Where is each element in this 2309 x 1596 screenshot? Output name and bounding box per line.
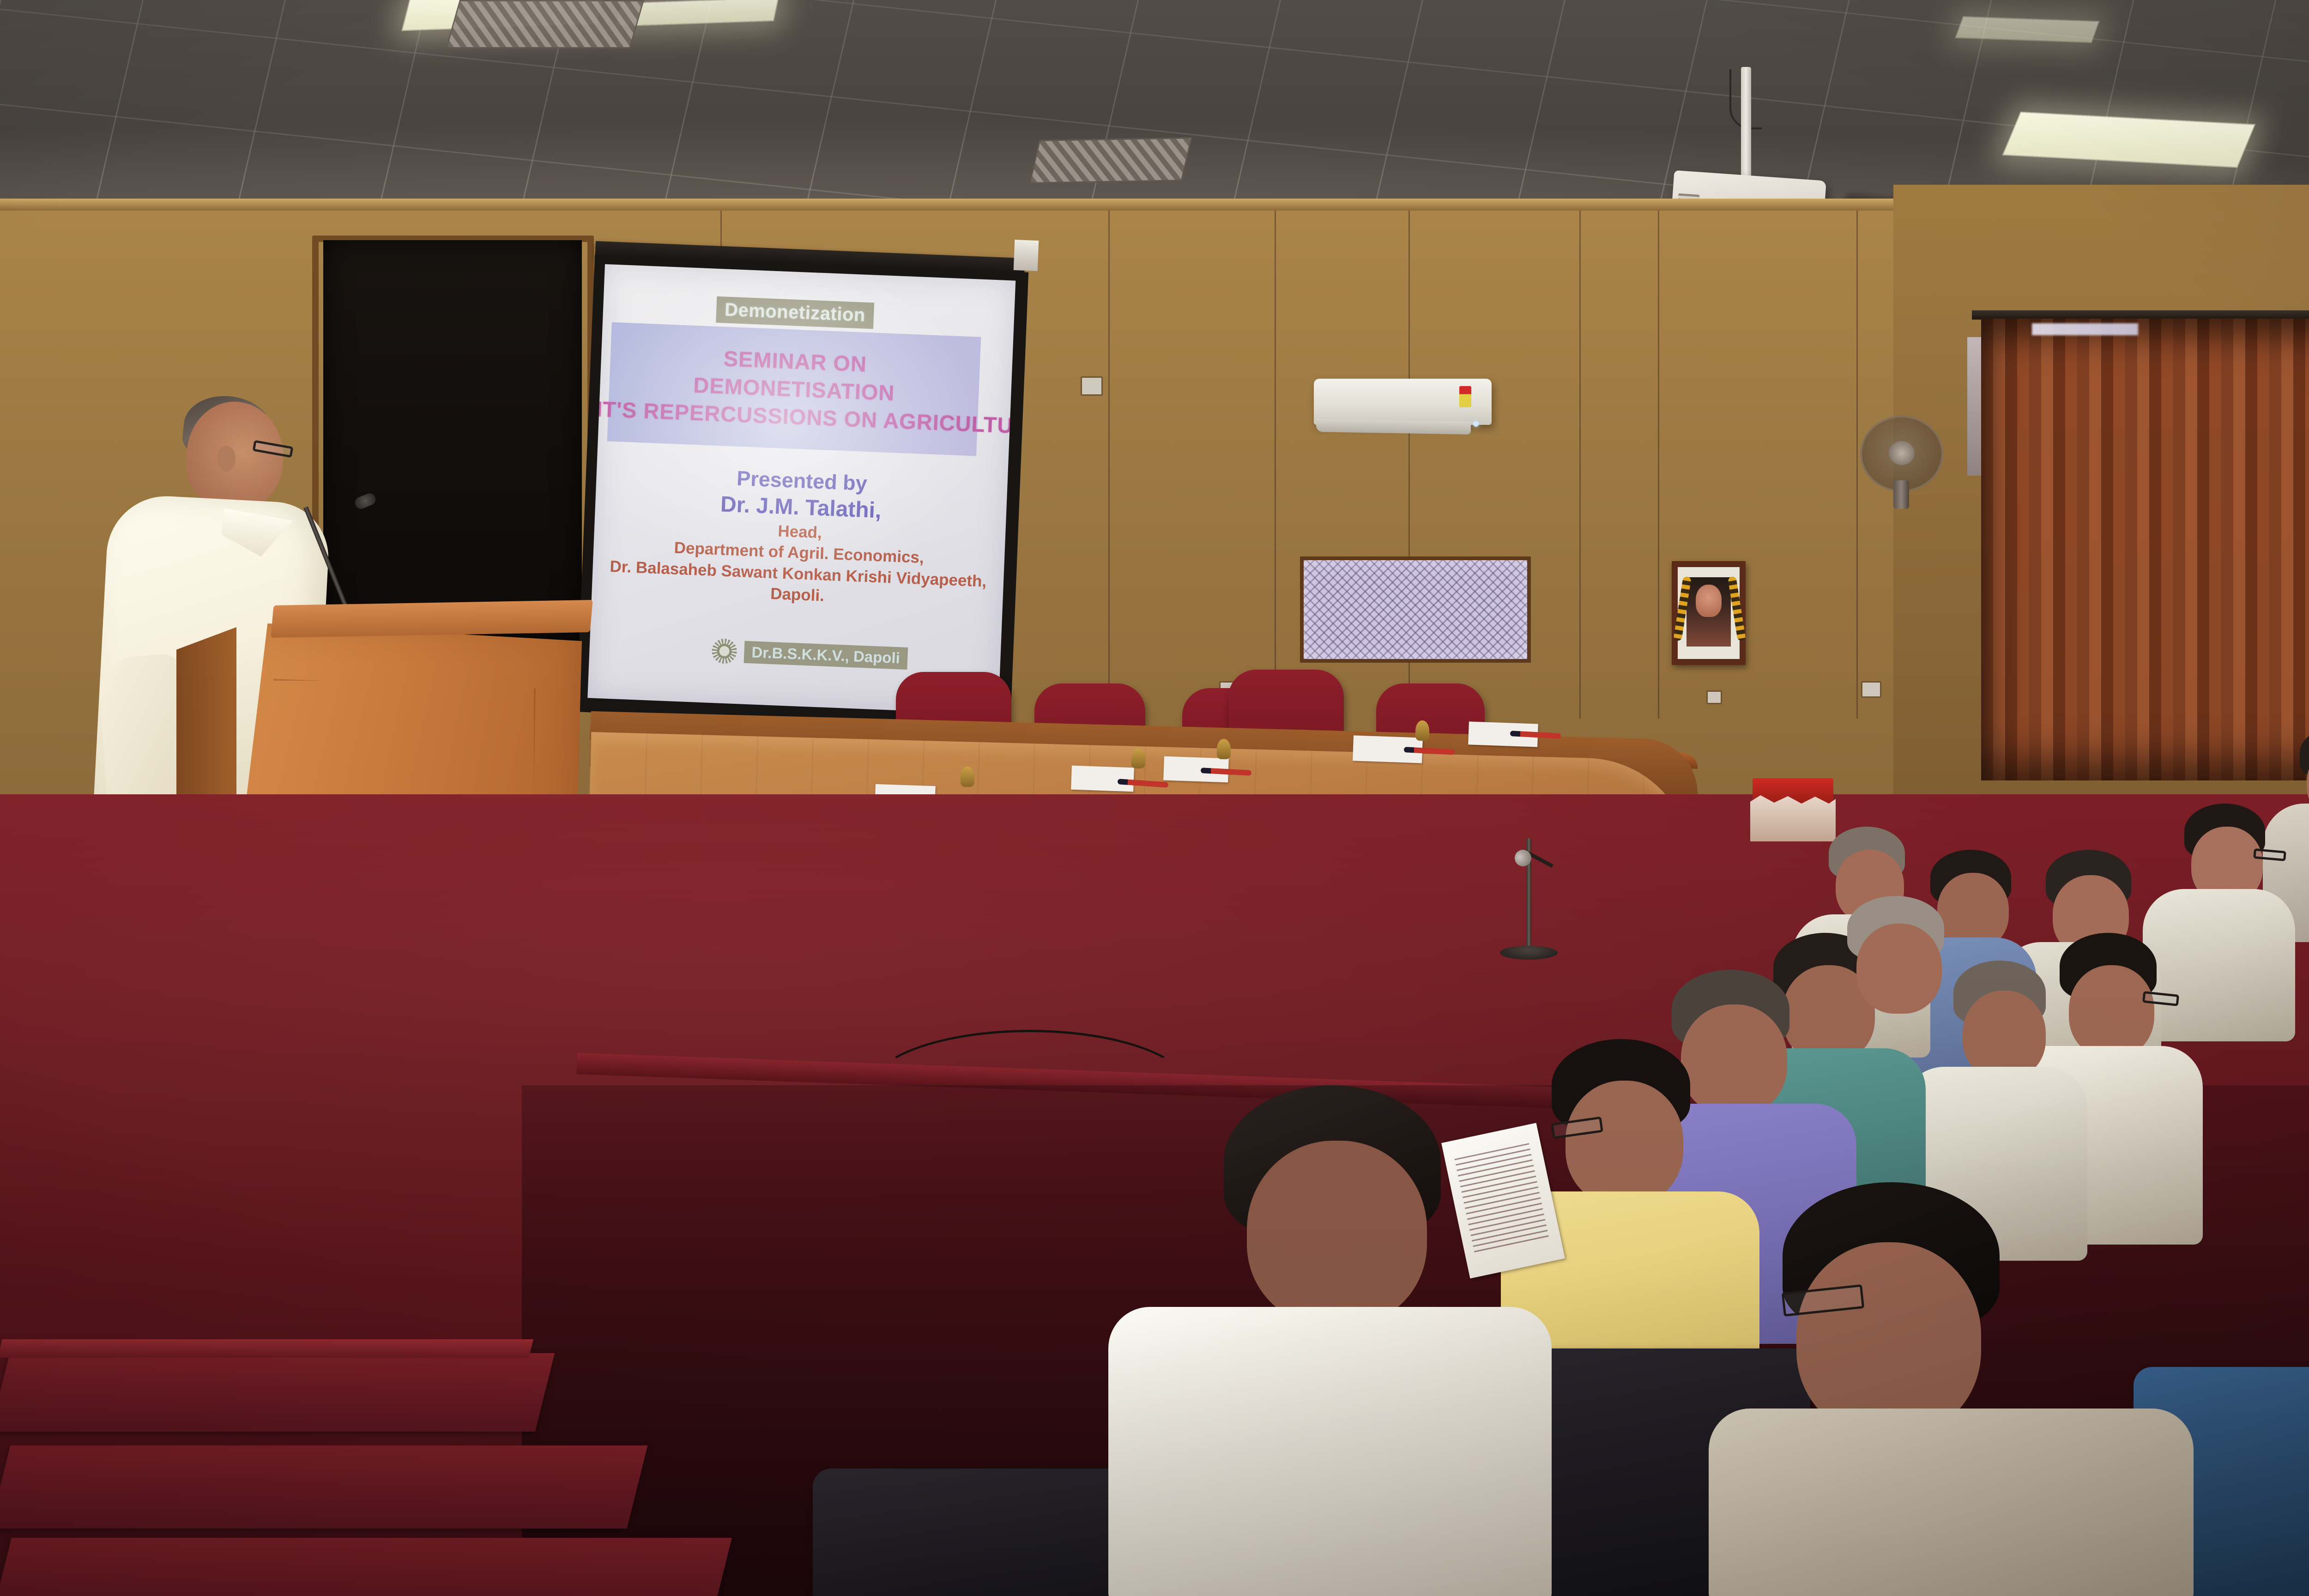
attendee-head xyxy=(1856,924,1942,1014)
draped-table-white-cloth xyxy=(1750,795,1836,841)
ceiling-vent-grille xyxy=(1029,137,1192,184)
slide-footer-label: Dr.B.S.K.K.V., Dapoli xyxy=(751,643,901,666)
stage-microphone-base xyxy=(1500,946,1558,960)
stage-step xyxy=(0,1445,647,1529)
stage-step xyxy=(0,1353,555,1432)
curtain-rod xyxy=(1972,310,2309,320)
curtain-light-gap xyxy=(2032,323,2138,335)
projection-screen: Demonetization SEMINAR ON DEMONETISATION… xyxy=(587,264,1015,714)
wall-seam xyxy=(1856,211,1858,719)
stage-step xyxy=(0,1538,732,1596)
attendee-head xyxy=(1566,1081,1683,1205)
air-conditioner-led xyxy=(1473,421,1479,427)
table-bell xyxy=(1217,739,1231,759)
step-riser xyxy=(0,1339,533,1358)
slide-header-label: Demonetization xyxy=(724,300,865,326)
air-conditioner-vane xyxy=(1316,419,1471,435)
projector-mount-pole xyxy=(1741,67,1751,180)
speaker-ear xyxy=(217,446,236,472)
slide-footer: Dr.B.S.K.K.V., Dapoli xyxy=(712,638,908,671)
wall-switch-box[interactable] xyxy=(1081,376,1103,396)
perforated-acoustic-panel xyxy=(1300,556,1531,663)
slide-header-band: Demonetization xyxy=(716,296,874,329)
table-bell xyxy=(1131,748,1145,768)
doorway[interactable] xyxy=(323,240,582,647)
wall-fan-hub xyxy=(1889,441,1915,465)
seminar-hall-photo: Demonetization SEMINAR ON DEMONETISATION… xyxy=(0,0,2309,1596)
table-bell xyxy=(1415,720,1429,741)
attendee-torso xyxy=(1709,1409,2194,1596)
slide-presenter-block: Presented by Dr. J.M. Talathi, Head, Dep… xyxy=(592,460,1008,614)
attendee-torso xyxy=(1108,1307,1552,1596)
attendee-head xyxy=(2069,965,2154,1058)
wall-fan-mount xyxy=(1893,480,1909,509)
notepad xyxy=(1071,766,1134,792)
sun-emblem-icon xyxy=(712,638,737,664)
attendee-head xyxy=(1796,1242,1981,1436)
slide-footer-band: Dr.B.S.K.K.V., Dapoli xyxy=(744,641,908,670)
table-bell xyxy=(961,767,974,787)
projection-screen-case-end xyxy=(1014,240,1039,271)
wall-seam xyxy=(1108,211,1110,719)
curtain xyxy=(1981,319,2309,780)
air-conditioner-sticker xyxy=(1459,386,1471,407)
attendee-head xyxy=(1247,1141,1427,1325)
podium-top xyxy=(271,600,592,638)
wall-seam xyxy=(1579,211,1581,719)
presentation-slide: Demonetization SEMINAR ON DEMONETISATION… xyxy=(587,264,1015,714)
slide-title-band: SEMINAR ON DEMONETISATION AND IT'S REPER… xyxy=(607,322,981,456)
wall-socket[interactable] xyxy=(1706,690,1722,704)
attendee-head xyxy=(1681,1004,1787,1115)
attendee-torso xyxy=(2143,889,2295,1041)
floor-cable xyxy=(868,1030,1191,1150)
wall-seam xyxy=(1658,211,1659,719)
wall-seam xyxy=(1275,211,1276,719)
attendee-head xyxy=(1963,991,2046,1079)
portrait-face xyxy=(1696,585,1722,617)
wall-socket[interactable] xyxy=(1861,681,1881,698)
ceiling-vent-grille xyxy=(446,0,644,48)
